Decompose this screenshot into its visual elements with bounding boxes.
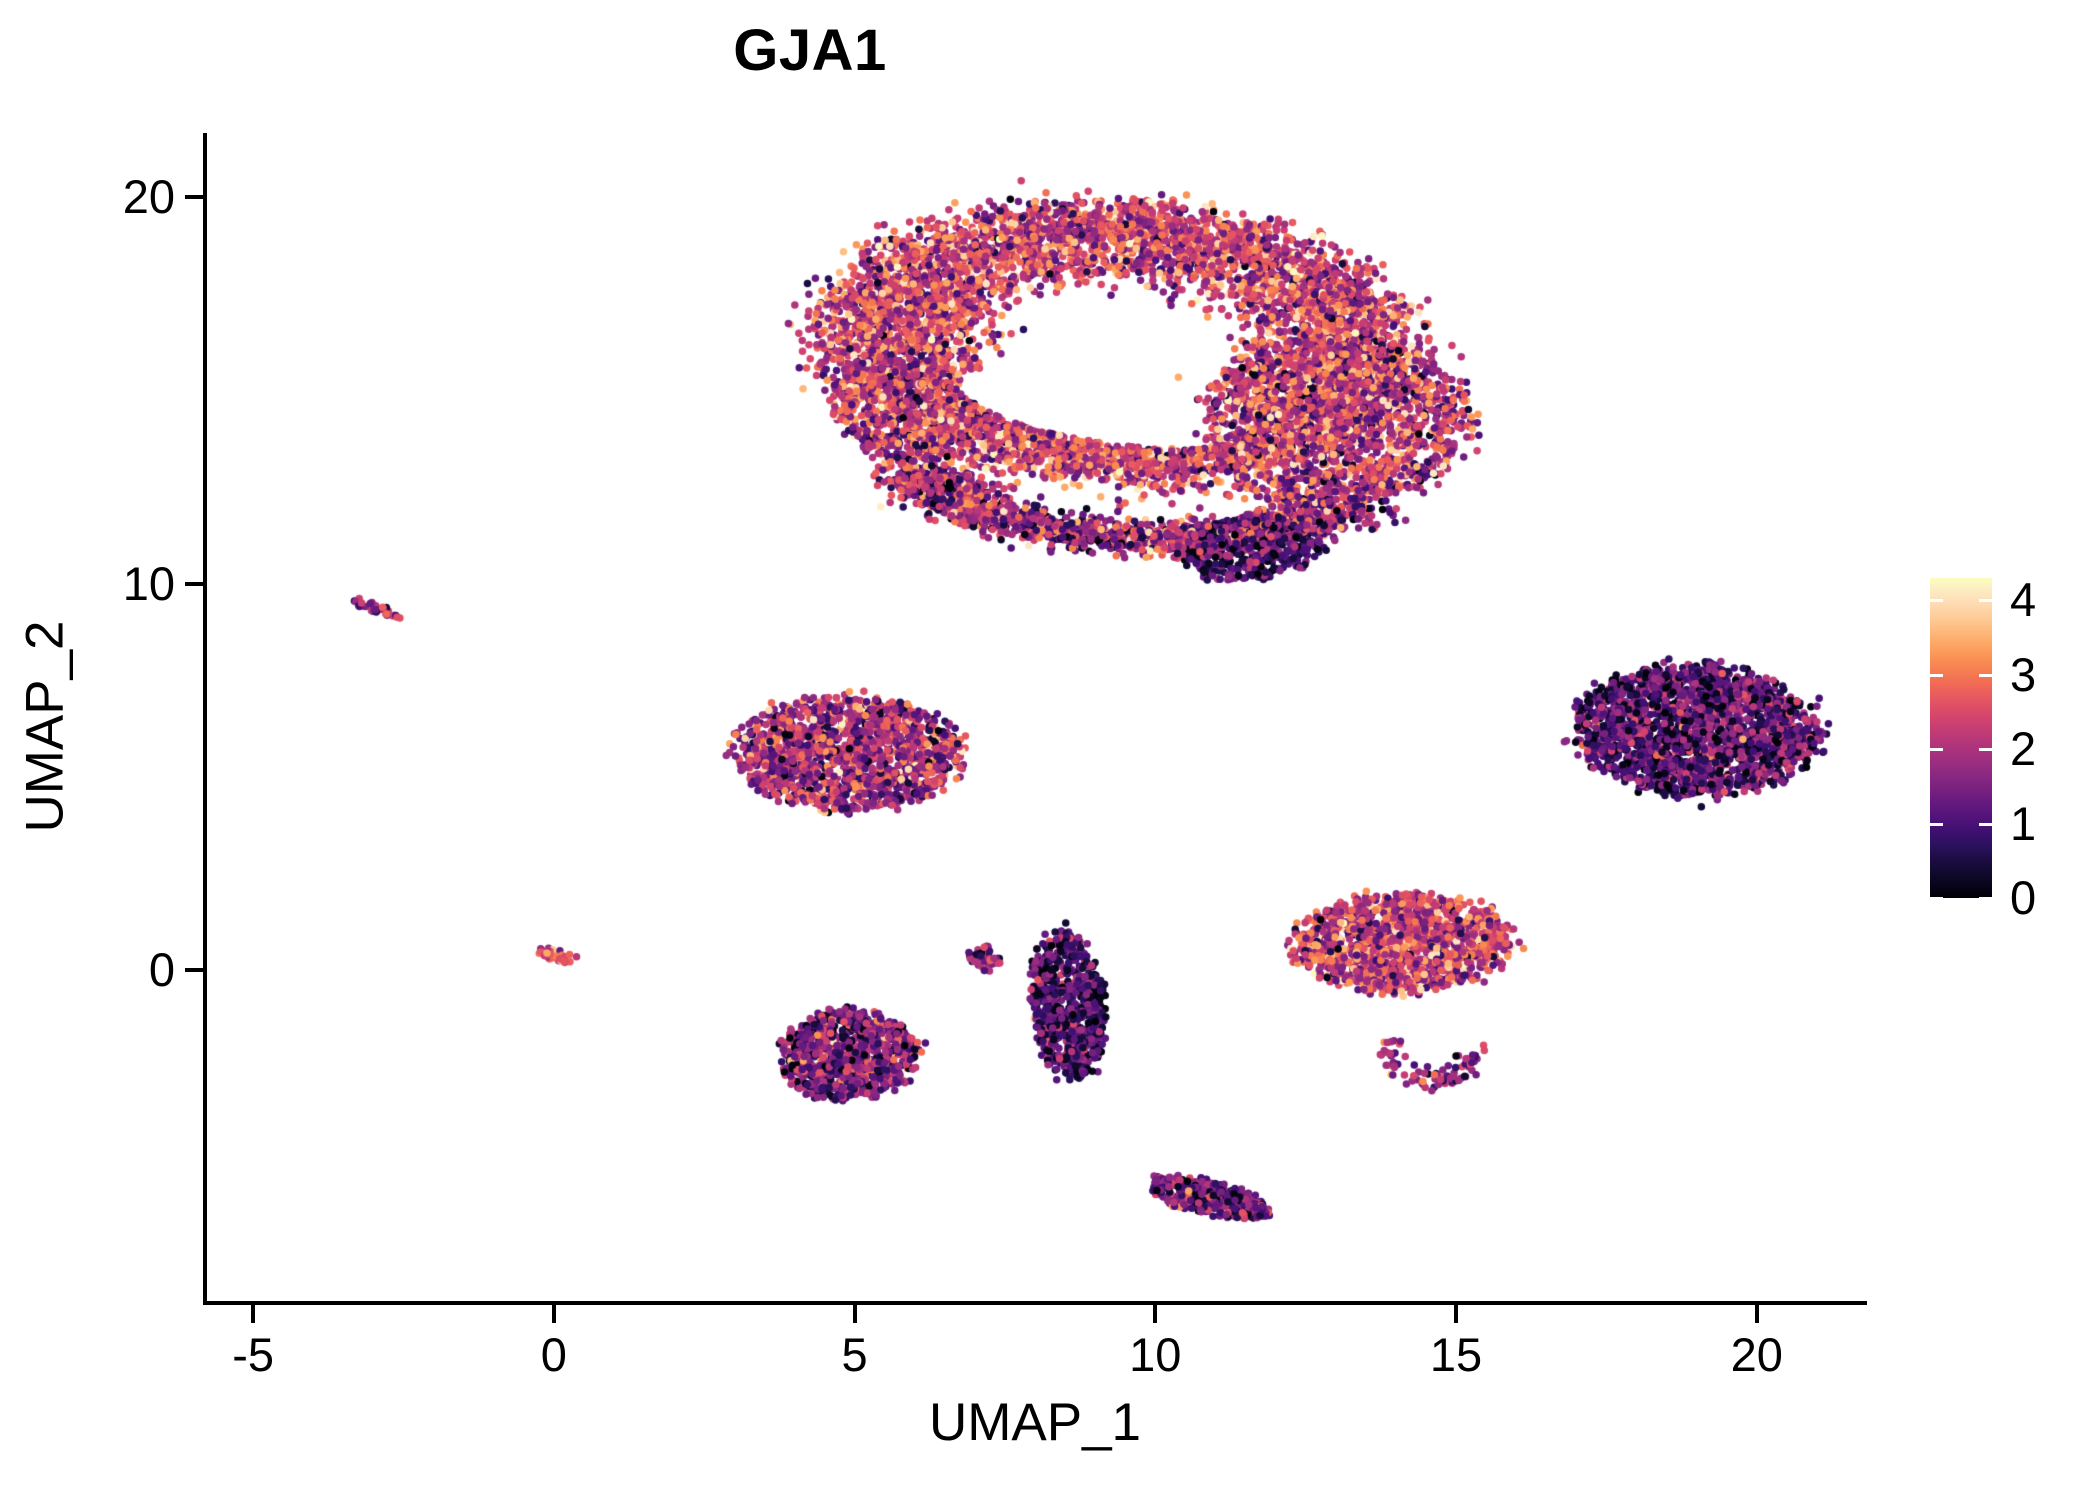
colorbar-tick-mark (1930, 674, 1992, 677)
colorbar-tick-label: 1 (2010, 800, 2036, 847)
colorbar-tick-mark (1930, 599, 1992, 602)
colorbar-tick-label: 0 (2010, 874, 2036, 921)
colorbar-tick-mark (1930, 897, 1992, 900)
umap-feature-plot: GJA1 -505101520 20100 UMAP_1 UMAP_2 4321… (0, 0, 2100, 1500)
colorbar-legend: 43210 (1930, 570, 2080, 915)
x-tick-label: 5 (775, 1331, 935, 1378)
x-tick-mark (1454, 1305, 1458, 1323)
x-tick-label: 20 (1677, 1331, 1837, 1378)
x-tick-mark (1755, 1305, 1759, 1323)
x-tick-label: 15 (1376, 1331, 1536, 1378)
y-tick-mark (185, 195, 203, 199)
colorbar-tick-mark (1930, 823, 1992, 826)
x-tick-label: 0 (474, 1331, 634, 1378)
y-tick-mark (185, 968, 203, 972)
x-axis-title: UMAP_1 (205, 1396, 1865, 1449)
x-tick-mark (1153, 1305, 1157, 1323)
colorbar-tick-label: 3 (2010, 651, 2036, 698)
x-tick-mark (552, 1305, 556, 1323)
colorbar-tick-mark (1930, 748, 1992, 751)
plot-panel (205, 135, 1865, 1303)
x-tick-mark (251, 1305, 255, 1323)
x-axis-line (203, 1301, 1867, 1305)
colorbar-tick-label: 4 (2010, 576, 2036, 623)
y-axis-line (203, 133, 207, 1305)
y-tick-mark (185, 582, 203, 586)
colorbar-gradient (1930, 578, 1992, 898)
page-title: GJA1 (0, 22, 1620, 80)
x-tick-label: -5 (173, 1331, 333, 1378)
x-tick-mark (853, 1305, 857, 1323)
scatter-plot-canvas (205, 135, 1865, 1303)
y-axis-title: UMAP_2 (19, 142, 72, 1312)
x-tick-label: 10 (1075, 1331, 1235, 1378)
colorbar-tick-label: 2 (2010, 725, 2036, 772)
